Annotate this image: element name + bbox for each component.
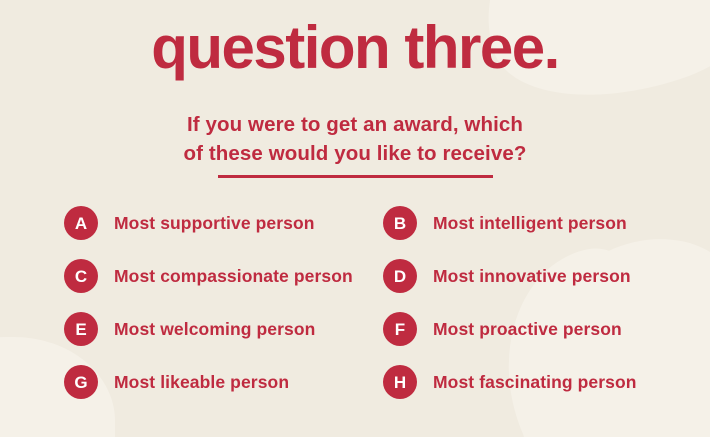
option-badge-f: F xyxy=(383,312,417,346)
option-badge-b: B xyxy=(383,206,417,240)
option-badge-g: G xyxy=(64,365,98,399)
question-line-2: of these would you like to receive? xyxy=(0,139,710,168)
question-text: If you were to get an award, which of th… xyxy=(0,110,710,168)
option-label-h: Most fascinating person xyxy=(433,372,637,393)
option-label-g: Most likeable person xyxy=(114,372,289,393)
answer-option-h[interactable]: H Most fascinating person xyxy=(383,365,637,399)
answer-option-b[interactable]: B Most intelligent person xyxy=(383,206,627,240)
option-label-c: Most compassionate person xyxy=(114,266,353,287)
answer-options-grid: A Most supportive person C Most compassi… xyxy=(0,199,710,429)
answer-option-g[interactable]: G Most likeable person xyxy=(64,365,289,399)
quiz-slide: question three. If you were to get an aw… xyxy=(0,0,710,437)
option-badge-a: A xyxy=(64,206,98,240)
answer-option-c[interactable]: C Most compassionate person xyxy=(64,259,353,293)
option-badge-e: E xyxy=(64,312,98,346)
option-badge-d: D xyxy=(383,259,417,293)
option-label-b: Most intelligent person xyxy=(433,213,627,234)
option-label-e: Most welcoming person xyxy=(114,319,315,340)
option-badge-c: C xyxy=(64,259,98,293)
option-label-a: Most supportive person xyxy=(114,213,315,234)
answer-option-e[interactable]: E Most welcoming person xyxy=(64,312,315,346)
option-badge-h: H xyxy=(383,365,417,399)
question-line-1: If you were to get an award, which xyxy=(0,110,710,139)
slide-title: question three. xyxy=(0,18,710,78)
title-underline-rule xyxy=(218,175,493,178)
answer-option-d[interactable]: D Most innovative person xyxy=(383,259,631,293)
answer-option-a[interactable]: A Most supportive person xyxy=(64,206,315,240)
option-label-f: Most proactive person xyxy=(433,319,622,340)
option-label-d: Most innovative person xyxy=(433,266,631,287)
answer-option-f[interactable]: F Most proactive person xyxy=(383,312,622,346)
